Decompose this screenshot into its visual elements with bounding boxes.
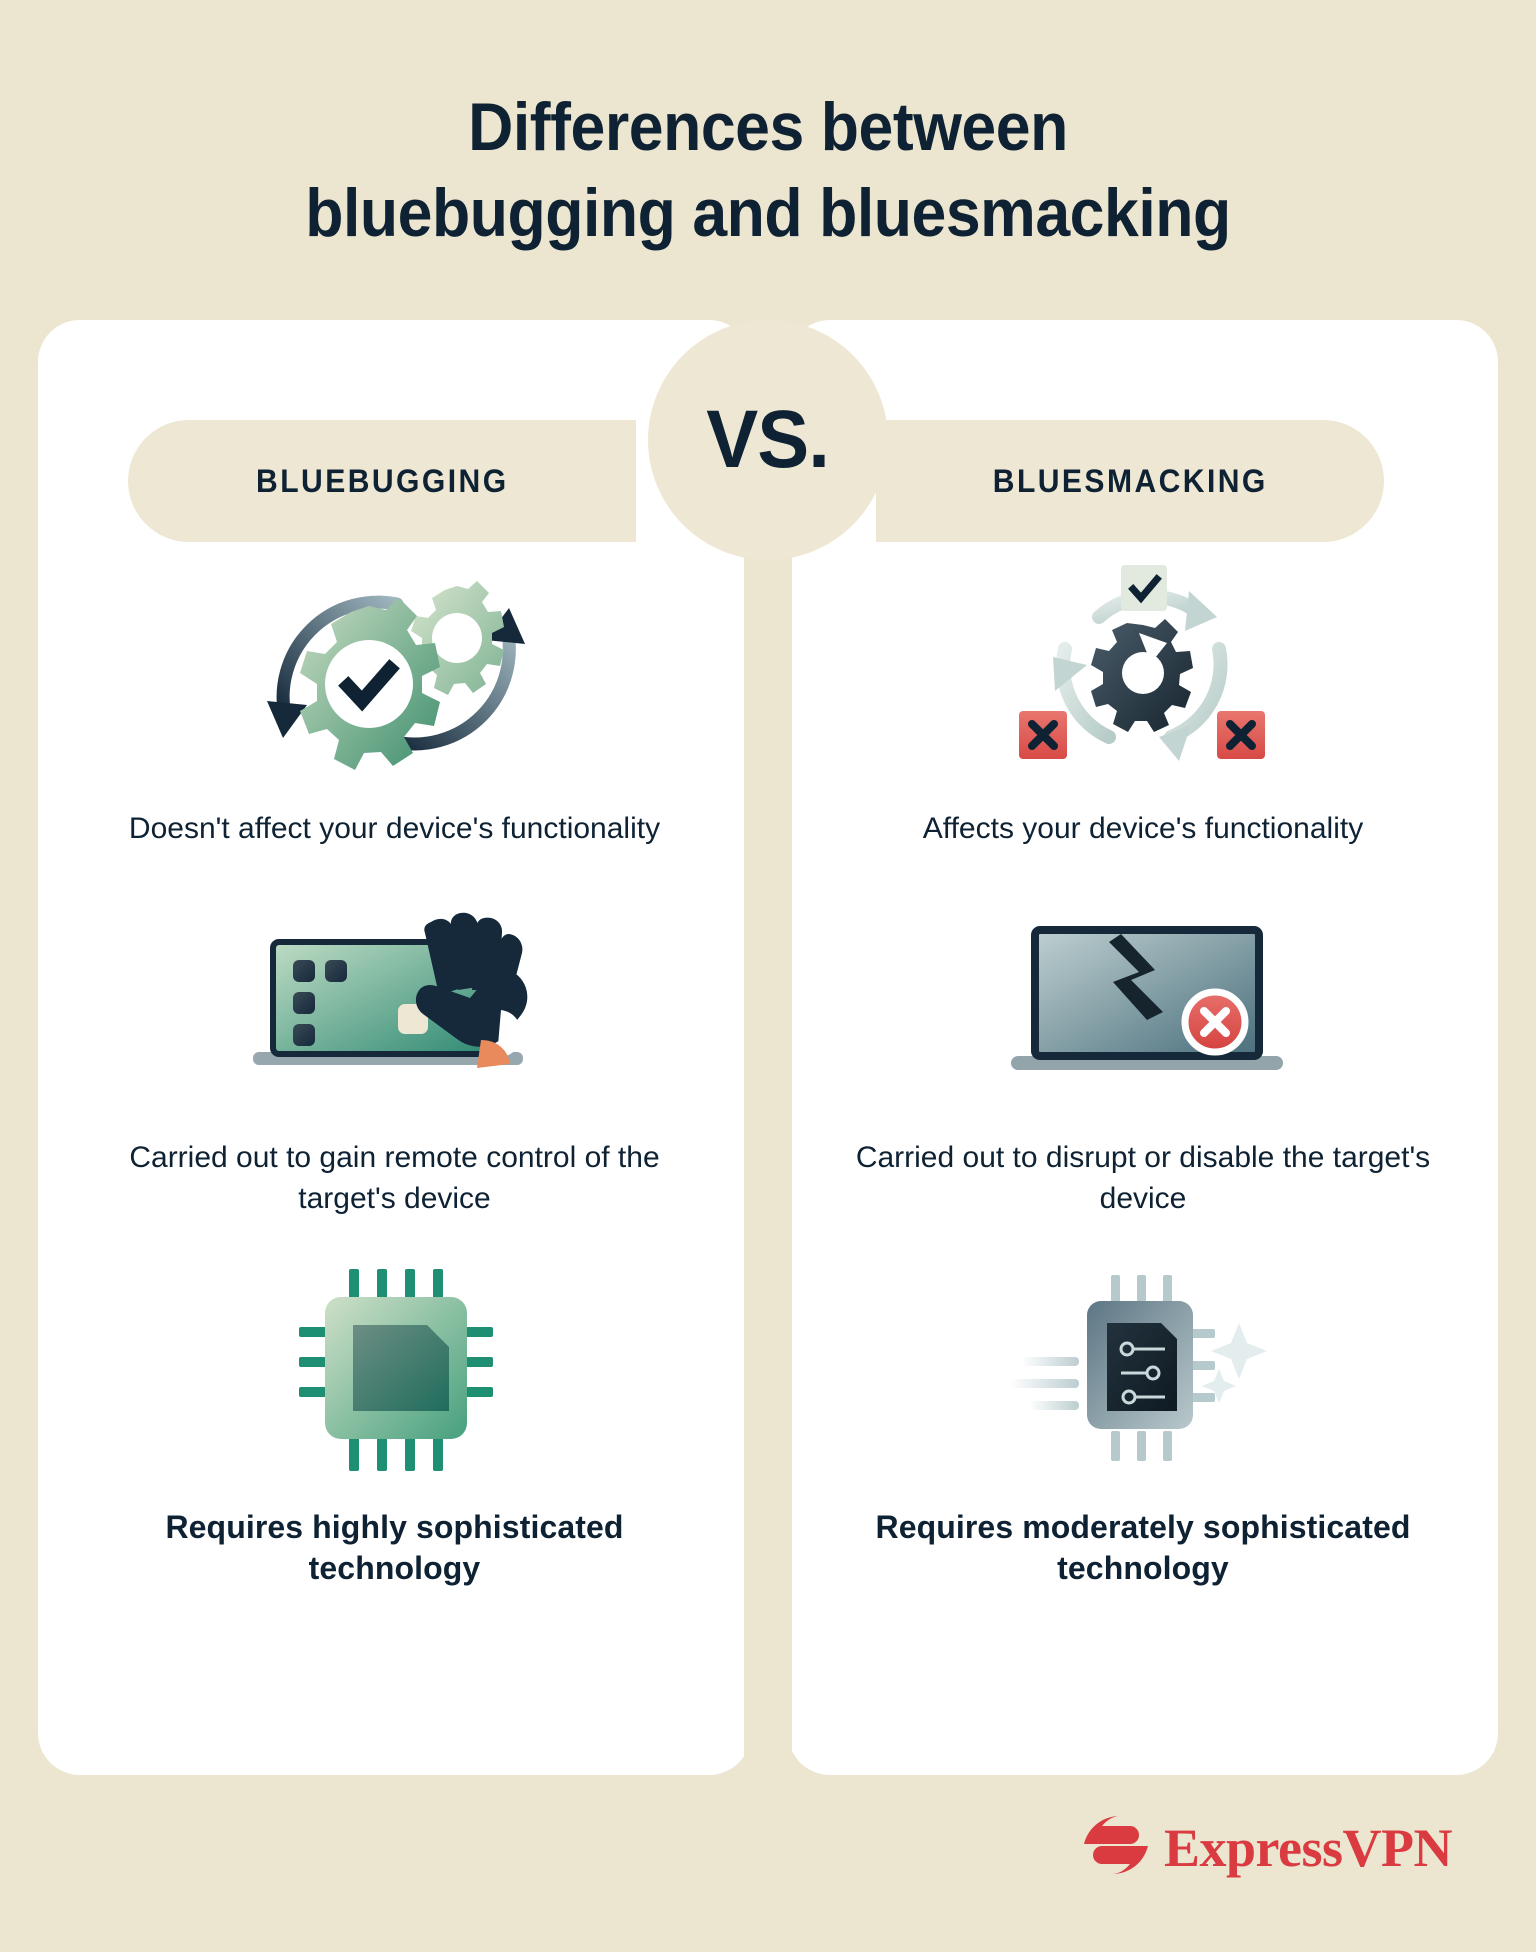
versus-badge: VS. xyxy=(648,320,888,560)
feature-row: Carried out to disrupt or disable the ta… xyxy=(788,875,1498,1219)
feature-caption: Carried out to disrupt or disable the ta… xyxy=(788,1137,1498,1219)
comparison-card-bluesmacking: BLUESMACKING xyxy=(788,320,1498,1775)
column-label-pill-bluesmacking: BLUESMACKING xyxy=(876,420,1384,542)
page-title: Differences between bluebugging and blue… xyxy=(61,84,1474,256)
comparison-card-bluebugging: BLUEBUGGING xyxy=(38,320,751,1775)
right-feature-rows: Affects your device's functionality xyxy=(788,546,1498,1615)
page-title-line-2: bluebugging and bluesmacking xyxy=(61,170,1474,256)
expressvpn-e-logo-icon xyxy=(1082,1814,1150,1881)
versus-label: VS. xyxy=(707,393,830,487)
feature-row: Doesn't affect your device's functionali… xyxy=(38,546,751,849)
expressvpn-logo: ExpressVPN xyxy=(1082,1814,1452,1881)
broken-cycle-with-x-marks-icon xyxy=(788,546,1498,796)
feature-row: Requires moderately sophisticated techno… xyxy=(788,1245,1498,1589)
column-label-bluesmacking: BLUESMACKING xyxy=(993,463,1268,500)
feature-caption: Requires highly sophisticated technology xyxy=(38,1507,751,1589)
laptop-hand-grabbing-file-icon xyxy=(38,875,751,1125)
feature-caption: Requires moderately sophisticated techno… xyxy=(788,1507,1498,1589)
microchip-slate-icon xyxy=(788,1245,1498,1495)
feature-row: Requires highly sophisticated technology xyxy=(38,1245,751,1589)
column-label-bluebugging: BLUEBUGGING xyxy=(256,463,508,500)
cracked-laptop-with-error-icon xyxy=(788,875,1498,1125)
expressvpn-wordmark: ExpressVPN xyxy=(1164,1817,1452,1879)
feature-caption: Carried out to gain remote control of th… xyxy=(38,1137,751,1219)
infographic-page: Differences between bluebugging and blue… xyxy=(0,0,1536,1952)
gears-with-checkmark-icon xyxy=(38,546,751,796)
feature-row: Carried out to gain remote control of th… xyxy=(38,875,751,1219)
feature-caption: Affects your device's functionality xyxy=(788,808,1498,849)
microchip-green-icon xyxy=(38,1245,751,1495)
column-label-pill-bluebugging: BLUEBUGGING xyxy=(128,420,636,542)
feature-caption: Doesn't affect your device's functionali… xyxy=(38,808,751,849)
page-title-line-1: Differences between xyxy=(61,84,1474,170)
left-feature-rows: Doesn't affect your device's functionali… xyxy=(38,546,751,1615)
feature-row: Affects your device's functionality xyxy=(788,546,1498,849)
